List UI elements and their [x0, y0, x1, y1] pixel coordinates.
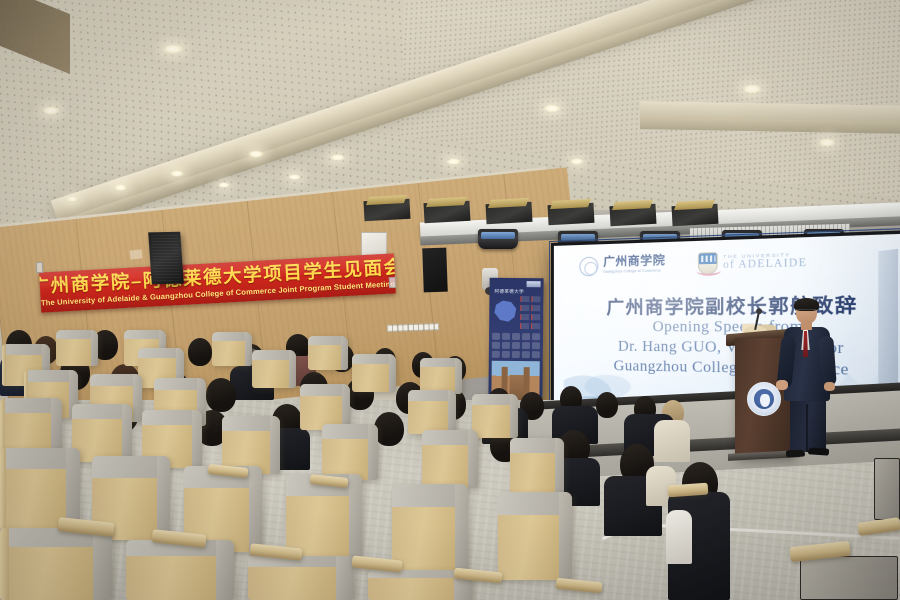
seat-edge-trim — [2, 344, 6, 386]
seat-side-panel — [448, 390, 456, 434]
ceiling-downlight — [42, 106, 60, 115]
ceiling-downlight — [570, 158, 584, 165]
rollup-map-section — [492, 296, 540, 331]
audience-head — [206, 378, 236, 412]
seat-side-panel — [559, 492, 572, 580]
stage-spotlight — [478, 229, 518, 249]
seat-side-panel — [245, 332, 252, 366]
acoustic-wedge-panel — [548, 203, 595, 225]
seat-side-panel — [289, 350, 296, 388]
presenter-hand — [776, 380, 788, 390]
seat-side-panel — [510, 394, 518, 438]
auditorium-seat[interactable] — [420, 358, 462, 394]
auditorium-seat[interactable] — [56, 330, 98, 366]
adelaide-crest-icon — [698, 252, 718, 275]
seat-side-panel — [270, 416, 280, 474]
rollup-icon — [532, 333, 540, 340]
audience-body — [654, 420, 690, 462]
ceiling-downlight — [218, 182, 230, 188]
auditorium-seat[interactable] — [212, 332, 252, 366]
auditorium-seat[interactable] — [286, 474, 362, 560]
seat-side-panel — [455, 358, 462, 394]
seat-edge-trim — [0, 528, 9, 600]
gcc-crest-icon — [579, 257, 598, 277]
rollup-stats-grid — [520, 296, 540, 330]
slide-title: 广州商学院副校长郭航致辞 — [576, 295, 896, 318]
auditorium-seat[interactable] — [498, 492, 572, 580]
australia-map-icon — [492, 296, 518, 326]
crest-inner-figure — [760, 394, 770, 407]
ceiling-downlight — [818, 138, 836, 147]
auditorium-seat[interactable] — [408, 390, 456, 434]
rollup-heading: 阿德莱德大学 — [494, 289, 540, 295]
presenter-shoe — [786, 450, 805, 458]
seat-edge-trim — [0, 448, 6, 530]
wall-highlight — [130, 249, 143, 259]
auditorium-seat[interactable] — [352, 354, 396, 392]
adelaide-logo: THE UNIVERSITY of ADELAIDE — [698, 250, 807, 276]
audience-body — [666, 510, 692, 564]
seat-side-panel — [91, 330, 98, 366]
auditorium-seat[interactable] — [126, 540, 234, 600]
adelaide-logo-line2: of ADELAIDE — [723, 259, 807, 272]
rollup-stat — [531, 305, 540, 311]
ceiling-downlight — [543, 104, 561, 113]
auditorium-seat[interactable] — [308, 336, 348, 370]
glasses-icon — [796, 309, 816, 313]
wall-speaker — [148, 232, 184, 284]
rollup-stat — [531, 314, 540, 320]
secondary-display-panel — [878, 249, 898, 402]
auditorium-seat[interactable] — [0, 528, 112, 600]
slide-logos: 广州商学院 Guangzhou College of Commerce THE … — [579, 250, 807, 278]
rollup-header — [493, 281, 541, 288]
gcc-logo: 广州商学院 Guangzhou College of Commerce — [579, 255, 665, 277]
banner-clip — [36, 262, 44, 273]
ceiling-downlight — [446, 158, 461, 165]
ceiling-downlight — [742, 84, 762, 94]
lecture-hall-photo: 广州商学院–阿德莱德大学项目学生见面会 The University of Ad… — [0, 0, 900, 600]
seat-side-panel — [133, 374, 142, 422]
rollup-icon — [532, 342, 540, 349]
gcc-logo-chinese: 广州商学院 — [603, 256, 665, 270]
audience-head — [596, 392, 618, 418]
ceiling-downlight — [114, 184, 127, 191]
banner-clip — [389, 277, 397, 288]
rollup-logo-icon — [527, 281, 541, 287]
ceiling-downlight — [288, 174, 301, 180]
acoustic-wedge-panel — [672, 204, 719, 226]
auditorium-seat[interactable] — [322, 424, 378, 480]
seat-side-panel — [341, 336, 348, 370]
audience-head — [188, 338, 212, 366]
ceiling-downlight — [248, 150, 264, 158]
acoustic-wedge-panel — [364, 199, 411, 221]
presenter-shoe — [808, 447, 829, 455]
rollup-icon — [492, 333, 500, 340]
rollup-stat — [520, 305, 529, 311]
rollup-icon-grid — [492, 333, 540, 359]
rollup-icon — [492, 342, 500, 349]
rollup-stat — [520, 323, 529, 329]
seat-side-panel — [389, 354, 396, 392]
rollup-icon — [492, 351, 500, 358]
seat-back-panel[interactable] — [800, 556, 898, 600]
presenter-hand — [824, 382, 835, 391]
ceiling-downlight — [162, 44, 184, 54]
seat-side-panel — [455, 484, 468, 572]
rollup-icon — [522, 342, 530, 349]
rollup-stat — [520, 314, 529, 320]
audience-head — [374, 412, 404, 446]
auditorium-seat[interactable] — [392, 484, 468, 572]
rollup-icon — [512, 333, 520, 340]
presenter-legs — [790, 398, 826, 452]
seat-side-panel — [192, 410, 202, 468]
seat-side-panel — [93, 528, 112, 600]
rollup-icon — [502, 351, 510, 358]
seat-side-panel — [468, 430, 478, 488]
speaker-grille — [151, 235, 180, 281]
acoustic-wedge-panel — [424, 201, 471, 223]
seat-side-panel — [216, 540, 234, 600]
acoustic-wedge-panel — [486, 202, 533, 224]
ceiling-downlight — [66, 196, 78, 202]
seat-side-panel — [122, 404, 132, 462]
speaker-grille — [422, 248, 446, 249]
auditorium-seat[interactable] — [422, 430, 478, 488]
seat-side-panel — [555, 438, 564, 494]
seat-back-panel[interactable] — [874, 458, 900, 520]
seat-side-panel — [368, 424, 378, 480]
gcc-logo-english: Guangzhou College of Commerce — [603, 270, 665, 275]
rollup-stat — [531, 296, 540, 302]
auditorium-seat[interactable] — [472, 394, 518, 438]
rollup-icon — [502, 333, 510, 340]
rollup-icon — [522, 333, 530, 340]
auditorium-seat[interactable] — [510, 438, 564, 494]
presenter-arm — [818, 336, 836, 387]
presenter — [778, 300, 840, 458]
rollup-stat — [520, 296, 529, 302]
wall-speaker — [422, 248, 448, 293]
rollup-stat — [531, 323, 540, 329]
rollup-icon — [502, 342, 510, 349]
auditorium-seat[interactable] — [252, 350, 296, 388]
rollup-icon — [522, 351, 530, 358]
rollup-banner: 阿德莱德大学 — [488, 278, 543, 403]
acoustic-wedge-panel — [610, 204, 657, 226]
ceiling-downlight — [170, 170, 184, 177]
ceiling-downlight — [330, 154, 345, 161]
rollup-icon — [512, 351, 520, 358]
rollup-icon — [512, 342, 520, 349]
seat-side-panel — [249, 466, 262, 552]
rollup-icon — [532, 351, 540, 358]
seat-side-panel — [349, 474, 362, 560]
auditorium-seat[interactable] — [248, 556, 354, 600]
seat-side-panel — [157, 456, 170, 540]
auditorium-seat[interactable] — [72, 404, 132, 462]
